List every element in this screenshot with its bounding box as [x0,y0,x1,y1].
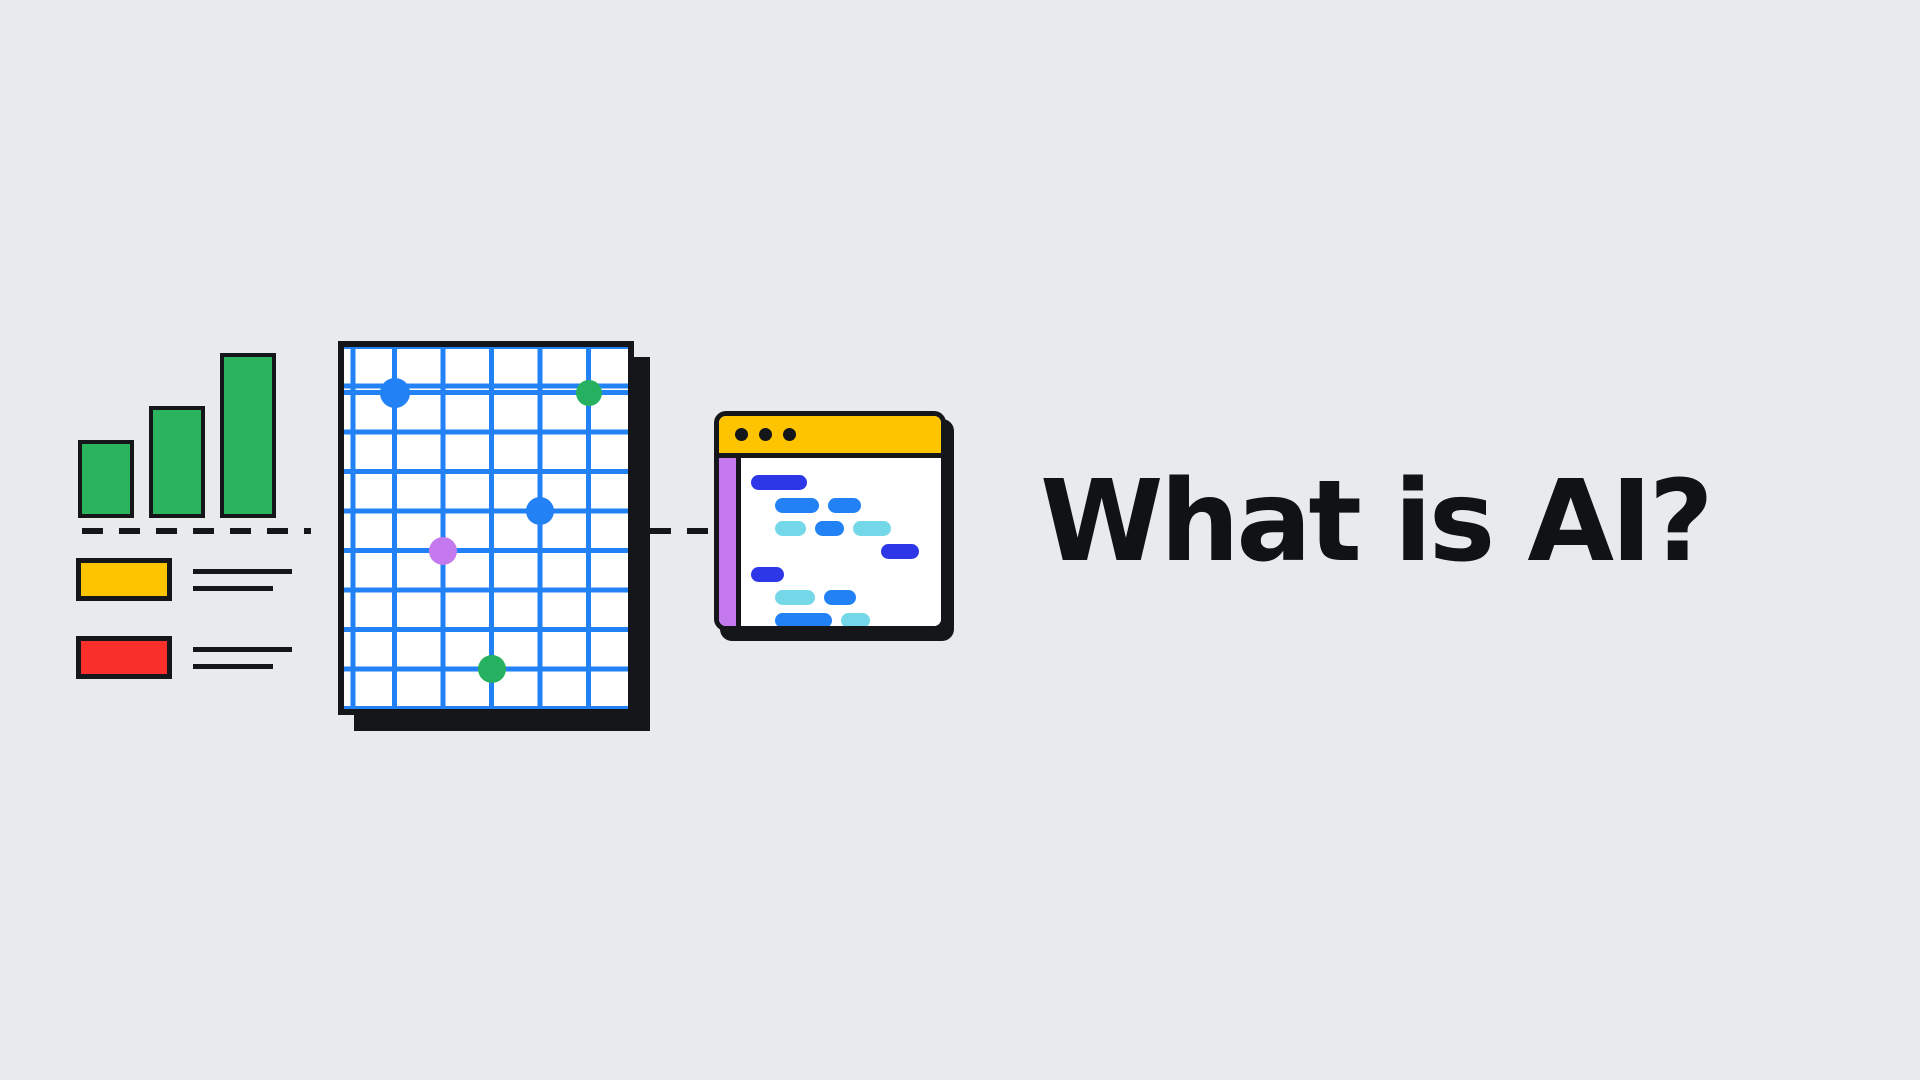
illustration-canvas: What is AI? [0,0,1920,1080]
browser-window-frame [714,411,946,631]
code-token [751,567,784,582]
code-line [775,590,856,605]
code-line [881,544,919,559]
code-token [815,521,844,536]
page-title: What is AI? [1040,466,1710,578]
green-point-top-right [576,380,602,406]
legend-swatch-red [76,636,172,679]
code-token [824,590,856,605]
legend-line [193,664,273,669]
browser-body [719,458,941,626]
code-token [775,521,806,536]
code-token [751,475,807,490]
legend-row-yellow [76,558,292,601]
window-maximize-icon[interactable] [783,428,796,441]
legend-row-red [76,636,292,679]
code-token [841,613,870,628]
legend-line [193,569,292,574]
bar-1 [78,440,134,518]
legend-label-lines-red [193,647,292,669]
browser-titlebar [719,416,941,458]
bar-chart [78,338,288,518]
legend-label-lines-yellow [193,569,292,591]
scatter-plot-card [338,341,634,715]
browser-window-mockup [714,411,954,641]
scatter-plot [338,341,650,731]
code-token [775,590,815,605]
code-token [853,521,891,536]
window-close-icon[interactable] [735,428,748,441]
purple-point-mid-left [429,537,457,565]
legend-swatch-yellow [76,558,172,601]
browser-sidebar [719,458,741,626]
legend-line [193,586,273,591]
code-token [775,613,832,628]
chart-baseline-dashed [82,528,311,534]
window-minimize-icon[interactable] [759,428,772,441]
code-token [881,544,919,559]
code-token [828,498,861,513]
bar-3 [220,353,276,518]
code-token [775,498,819,513]
code-line [775,498,861,513]
code-line [775,521,891,536]
code-line [751,567,784,582]
code-line [775,613,870,628]
code-editor-area [741,458,941,626]
blue-point-top-left [380,378,410,408]
legend-line [193,647,292,652]
blue-point-mid-right [526,497,554,525]
bar-2 [149,406,205,518]
green-point-bottom [478,655,506,683]
code-line [751,475,807,490]
